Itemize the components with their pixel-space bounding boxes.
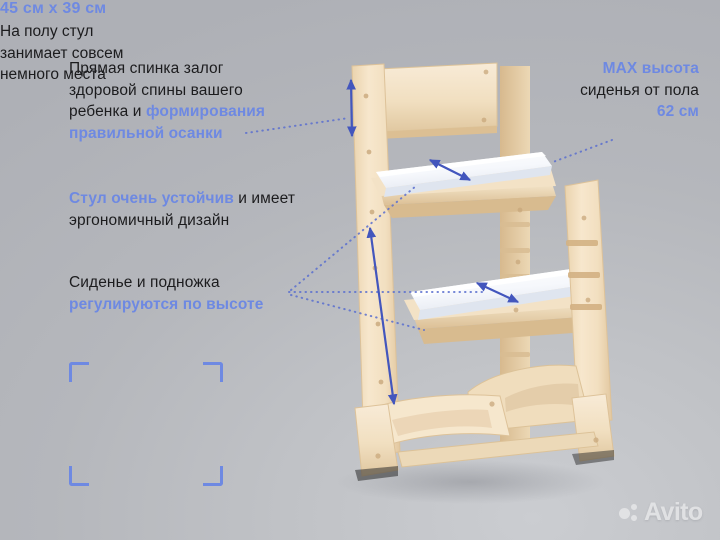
product-infographic: Прямая спинка залог здоровой спины вашег…	[0, 0, 720, 540]
annotation-adjustable-line1: Сиденье и подножка	[69, 274, 220, 291]
annotation-stability: Стул очень устойчив и имеет эргономичный…	[69, 188, 339, 231]
annotation-posture-line2: здоровой спины вашего	[69, 82, 243, 99]
annotation-max-height-line2: сиденья от пола	[580, 82, 699, 99]
annotation-posture-line1: Прямая спинка залог	[69, 60, 224, 77]
annotation-posture-line3-accent: формирования	[146, 103, 265, 120]
annotation-posture-line4-accent: правильной осанки	[69, 125, 223, 142]
annotation-max-height-title: MAX высота	[603, 60, 699, 77]
annotation-stability-plain: и имеет	[234, 190, 295, 207]
annotation-max-height: MAX высота сиденья от пола 62 см	[449, 58, 699, 123]
annotation-adjustable-line2-accent: регулируются по высоте	[69, 296, 263, 313]
avito-watermark: Avito	[619, 500, 703, 525]
annotation-posture: Прямая спинка залог здоровой спины вашег…	[69, 58, 319, 144]
bracket-top-right	[203, 362, 223, 382]
avito-dots-icon	[619, 503, 639, 523]
bracket-bottom-right	[203, 466, 223, 486]
bracket-top-left	[69, 362, 89, 382]
annotation-stability-accent: Стул очень устойчив	[69, 190, 234, 207]
annotation-stability-line2: эргономичный дизайн	[69, 212, 229, 229]
annotation-posture-line3-plain: ребенка и	[69, 103, 146, 120]
avito-wordmark: Avito	[644, 500, 703, 525]
annotation-max-height-value: 62 см	[657, 103, 699, 120]
bracket-bottom-left	[69, 466, 89, 486]
annotation-adjustable: Сиденье и подножка регулируются по высот…	[69, 272, 309, 315]
